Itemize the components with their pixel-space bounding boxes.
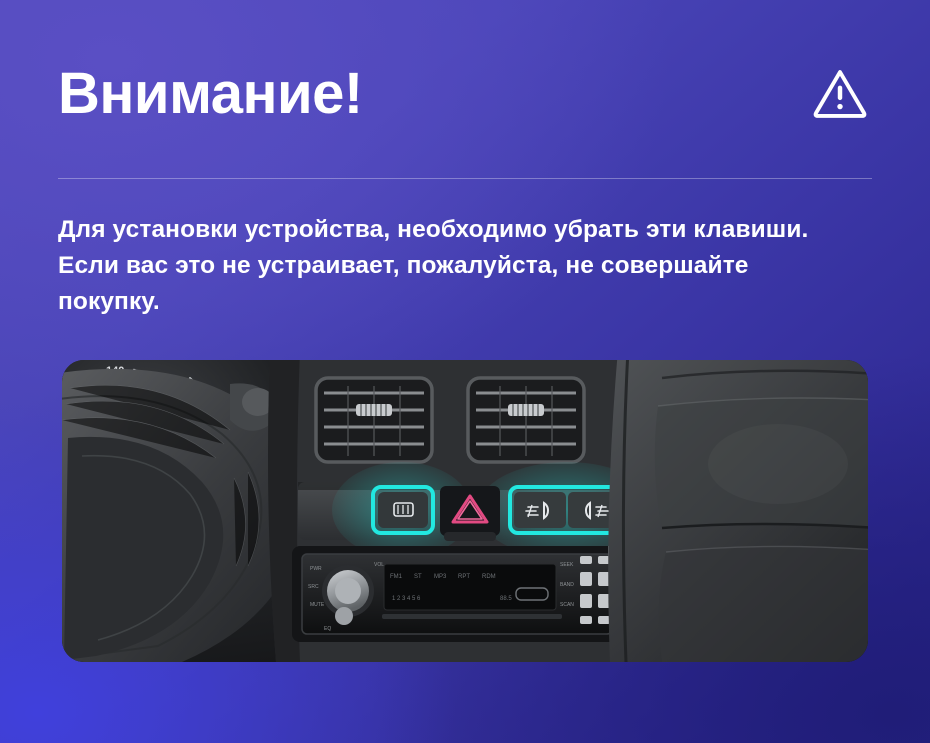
svg-text:SCAN: SCAN	[560, 602, 574, 608]
svg-text:SRC: SRC	[308, 584, 319, 590]
svg-text:ST: ST	[414, 574, 422, 580]
svg-text:MUTE: MUTE	[310, 602, 325, 608]
right-air-vent	[468, 378, 584, 462]
svg-text:88.5: 88.5	[500, 596, 512, 602]
svg-text:BAND: BAND	[560, 582, 574, 588]
header-divider	[58, 178, 872, 179]
svg-text:VOL: VOL	[374, 562, 384, 568]
left-air-vent	[316, 378, 432, 462]
svg-text:FM1: FM1	[390, 574, 403, 580]
svg-text:EQ: EQ	[324, 626, 331, 632]
svg-text:RDM: RDM	[482, 574, 496, 580]
svg-text:MP3: MP3	[434, 574, 447, 580]
rear-defogger-button	[378, 492, 428, 528]
body-copy: Для установки устройства, необходимо убр…	[58, 212, 858, 320]
svg-text:RPT: RPT	[458, 574, 470, 580]
banner-header: Внимание!	[58, 48, 872, 140]
warning-banner: Внимание! Для установки устройства, необ…	[0, 0, 930, 743]
page-title: Внимание!	[58, 65, 363, 123]
svg-text:PWR: PWR	[310, 566, 322, 572]
body-line-1: Для установки устройства, необходимо убр…	[58, 212, 858, 248]
warning-triangle-icon	[808, 64, 872, 124]
car-dashboard-photo: 140 160 180 200 km/h	[62, 360, 868, 662]
body-line-3: покупку.	[58, 284, 858, 320]
car-radio-head-unit: PWR SRC MUTE EQ VOL FM1 ST MP3 RPT RDM 1…	[292, 546, 628, 642]
hazard-lights-button	[440, 486, 500, 541]
svg-text:SEEK: SEEK	[560, 562, 574, 568]
passenger-dash	[608, 360, 868, 662]
front-fog-light-button	[514, 492, 566, 528]
body-line-2: Если вас это не устраивает, пожалуйста, …	[58, 248, 858, 284]
svg-text:1 2 3 4 5 6: 1 2 3 4 5 6	[392, 596, 421, 602]
